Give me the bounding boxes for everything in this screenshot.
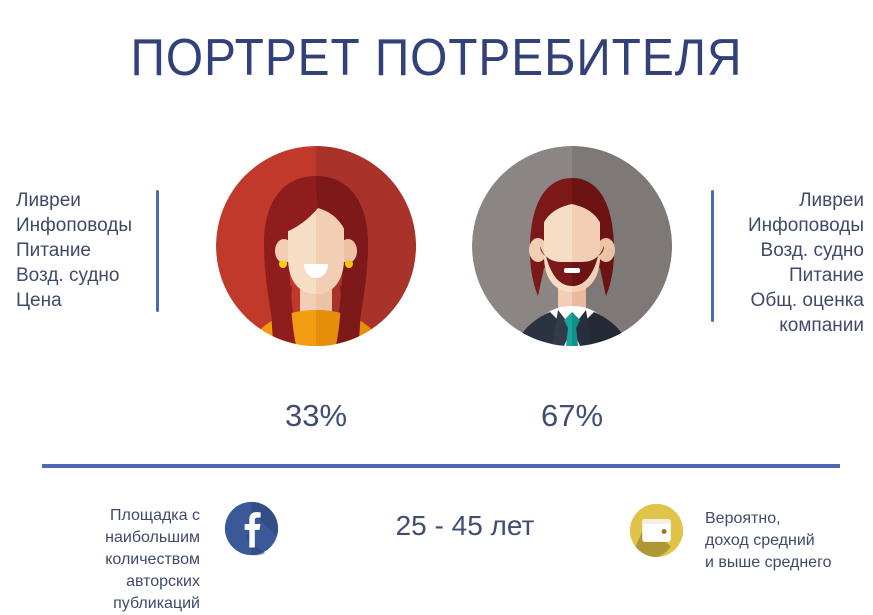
female-avatar xyxy=(216,146,416,346)
attribute-item: Ливреи xyxy=(724,188,864,213)
male-attribute-list: Ливреи Инфоповоды Возд. судно Питание Об… xyxy=(724,188,864,338)
caption-line: наибольшим xyxy=(30,527,200,549)
page-title: ПОРТРЕТ ПОТРЕБИТЕЛЯ xyxy=(35,28,838,88)
caption-line: Вероятно, xyxy=(705,508,870,530)
wallet-icon xyxy=(628,502,685,559)
section-divider xyxy=(42,464,840,468)
female-list-accent-bar xyxy=(156,190,159,312)
attribute-item: Цена xyxy=(16,288,146,313)
attribute-item: Питание xyxy=(724,263,864,288)
attribute-item: Питание xyxy=(16,238,146,263)
attribute-item: Инфоповоды xyxy=(724,213,864,238)
attribute-item: Общ. оценка xyxy=(724,288,864,313)
infographic-canvas: ПОРТРЕТ ПОТРЕБИТЕЛЯ Ливреи Инфоповоды Пи… xyxy=(0,0,873,615)
age-range-label: 25 - 45 лет xyxy=(340,510,590,542)
caption-line: доход средний xyxy=(705,530,870,552)
caption-line: количеством xyxy=(30,549,200,571)
caption-line: Площадка с xyxy=(30,505,200,527)
facebook-icon xyxy=(223,500,280,557)
male-list-accent-bar xyxy=(711,190,714,322)
male-percent: 67% xyxy=(492,398,652,434)
attribute-item: Возд. судно xyxy=(16,263,146,288)
attribute-item: Ливреи xyxy=(16,188,146,213)
caption-line: публикаций xyxy=(30,593,200,615)
caption-line: авторских xyxy=(30,571,200,593)
female-percent: 33% xyxy=(236,398,396,434)
social-platform-caption: Площадка с наибольшим количеством авторс… xyxy=(30,505,200,615)
caption-line: и выше среднего xyxy=(705,552,870,574)
income-caption: Вероятно, доход средний и выше среднего xyxy=(705,508,870,574)
attribute-item: Инфоповоды xyxy=(16,213,146,238)
male-avatar xyxy=(472,146,672,346)
attribute-item: Возд. судно xyxy=(724,238,864,263)
female-attribute-list: Ливреи Инфоповоды Питание Возд. судно Це… xyxy=(16,188,146,313)
bottom-facts-row: Площадка с наибольшим количеством авторс… xyxy=(0,490,873,615)
attribute-item: компании xyxy=(724,313,864,338)
